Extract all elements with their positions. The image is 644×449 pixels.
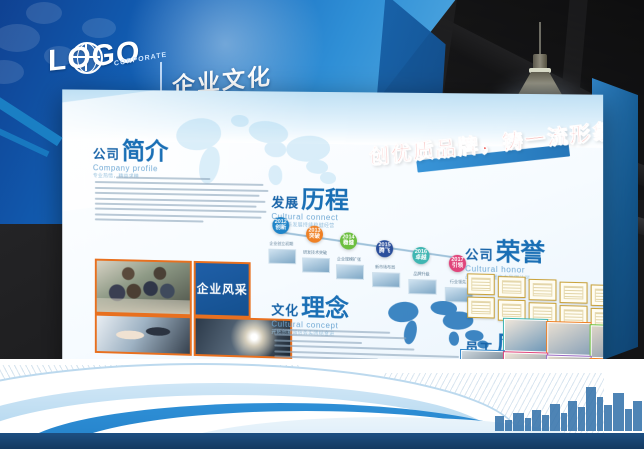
badge-corporate-style: 企业风采: [194, 261, 251, 318]
timeline-thumb: [336, 264, 364, 280]
timeline-card: 研发技术突破: [302, 249, 328, 272]
timeline-caption: 企业创立初期: [268, 241, 294, 248]
bokeh-circle: [0, 24, 40, 52]
badge-label: 企业风采: [197, 282, 248, 296]
heading-cn-big: 理念: [301, 295, 349, 322]
timeline-caption: 品牌升级: [408, 271, 434, 278]
floor-strip: [0, 433, 644, 449]
timeline-label: 创新: [275, 225, 286, 231]
bottom-wave-decor: [0, 359, 644, 449]
timeline-caption: 研发技术突破: [302, 249, 328, 256]
timeline-node-2015: 2015 腾飞: [376, 240, 393, 257]
screenshot-canvas: LOGO CORPORATE 企业文化 创优质品牌，铸一流形象 公司简介 Com…: [0, 0, 644, 449]
logo-divider: [160, 62, 162, 92]
timeline-card: 企业创立初期: [268, 241, 294, 264]
heading-cn-small: 公司: [465, 247, 494, 263]
timeline-thumb: [268, 248, 296, 264]
photo-handheld-device: [95, 314, 192, 356]
timeline-label: 卓越: [415, 255, 426, 261]
timeline-card: 企业规模扩张: [336, 256, 362, 279]
heading-cn-small: 发展: [271, 195, 299, 210]
timeline-thumb: [408, 278, 436, 294]
certificate: [467, 273, 495, 295]
timeline-card: 品牌升级: [408, 271, 434, 294]
timeline-node-2013: 2013 突破: [306, 226, 323, 243]
bokeh-circle: [82, 18, 116, 38]
timeline-node-2017: 2017 引领: [449, 255, 466, 273]
photo-meeting-room: [95, 259, 192, 317]
culture-display-board: 创优质品牌，铸一流形象 公司简介 Company profile 专业热情，精益…: [62, 89, 603, 388]
timeline-label: 突破: [309, 234, 320, 240]
certificate: [591, 284, 603, 306]
timeline-node-2012: 2012 创新: [272, 217, 289, 234]
heading-cn-big: 简介: [122, 139, 169, 165]
timeline-label: 腾飞: [379, 249, 390, 255]
heading-cn-small: 公司: [93, 147, 120, 162]
section-company-profile-heading: 公司简介 Company profile 专业热情，精益求精: [93, 131, 168, 180]
timeline-thumb: [302, 257, 330, 273]
lamp-cord: [539, 22, 541, 56]
timeline-node-2016: 2016 卓越: [412, 247, 429, 265]
staff-photo: [591, 325, 603, 359]
city-skyline-silhouette: [454, 383, 644, 431]
certificate: [560, 282, 588, 304]
timeline-node-2014: 2014 稳健: [340, 232, 357, 249]
bokeh-circle: [26, 2, 62, 24]
timeline-thumb: [372, 272, 400, 288]
certificate: [529, 279, 557, 301]
company-profile-body-text: [95, 176, 271, 227]
staff-photo: [504, 319, 547, 353]
timeline-caption: 新市场布局: [372, 264, 398, 271]
certificate: [498, 276, 526, 298]
certificate: [467, 297, 495, 319]
heading-cn-small: 文化: [271, 303, 299, 319]
heading-cn-big: 历程: [301, 188, 349, 215]
timeline-caption: 企业规模扩张: [336, 256, 362, 263]
bokeh-circle: [0, 60, 24, 84]
staff-photo: [547, 322, 590, 356]
heading-cn-big: 荣誉: [496, 240, 545, 267]
globe-icon: [71, 42, 103, 74]
timeline-label: 引领: [452, 263, 463, 269]
logo-header: LOGO CORPORATE 企业文化: [48, 40, 278, 88]
timeline-label: 稳健: [343, 241, 354, 247]
timeline-card: 新市场布局: [372, 264, 398, 287]
